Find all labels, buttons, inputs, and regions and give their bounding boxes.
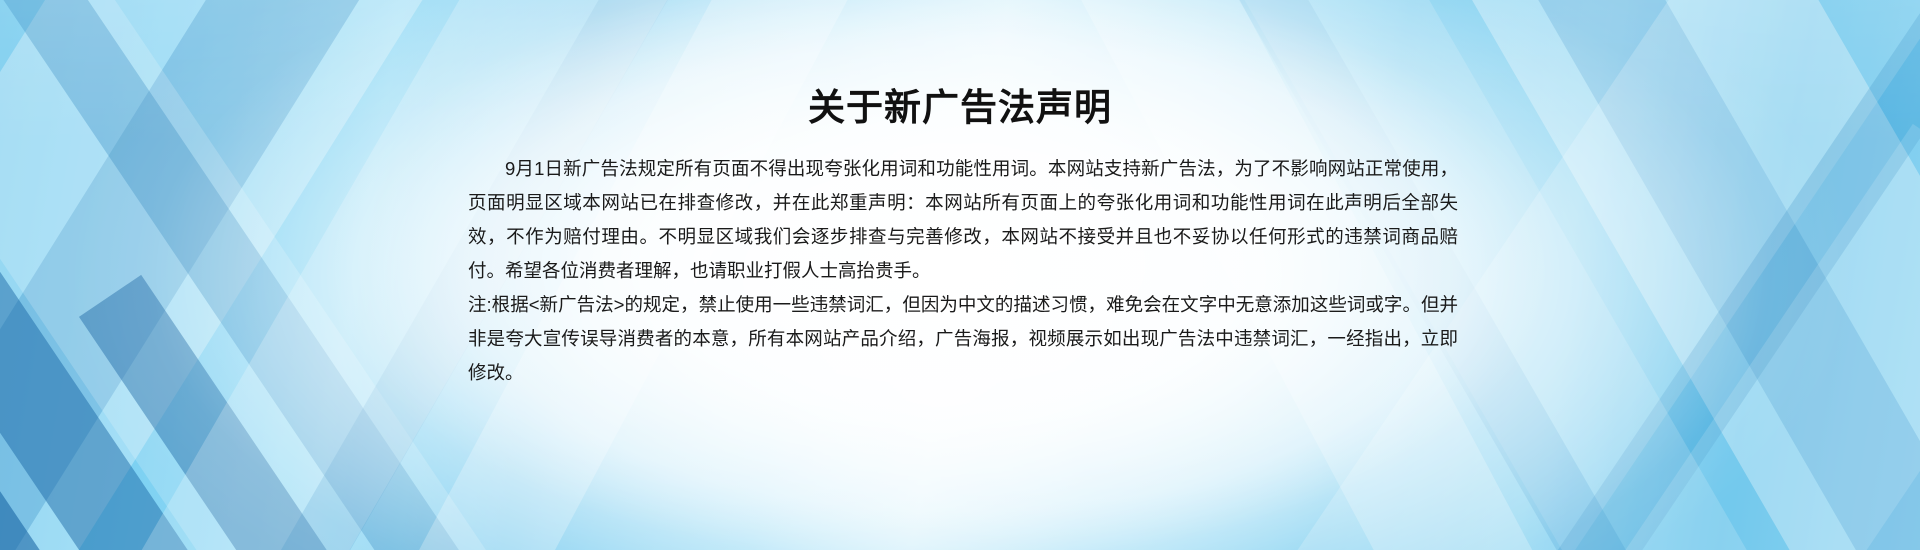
statement-content: 关于新广告法声明 9月1日新广告法规定所有页面不得出现夸张化用词和功能性用词。本… <box>460 0 1460 550</box>
advertising-law-statement-banner: 关于新广告法声明 9月1日新广告法规定所有页面不得出现夸张化用词和功能性用词。本… <box>0 0 1920 550</box>
statement-paragraph-2: 注:根据<新广告法>的规定，禁止使用一些违禁词汇，但因为中文的描述习惯，难免会在… <box>468 288 1458 390</box>
statement-body: 9月1日新广告法规定所有页面不得出现夸张化用词和功能性用词。本网站支持新广告法，… <box>460 152 1460 390</box>
page-title: 关于新广告法声明 <box>460 0 1460 129</box>
statement-paragraph-1: 9月1日新广告法规定所有页面不得出现夸张化用词和功能性用词。本网站支持新广告法，… <box>468 152 1458 288</box>
